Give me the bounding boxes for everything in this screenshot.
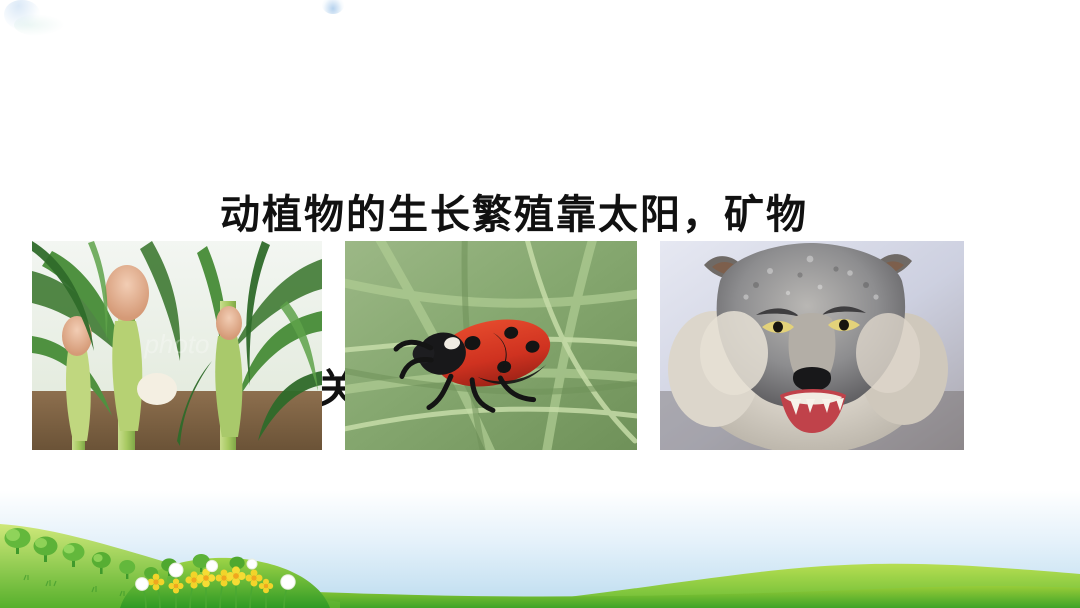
top-accent-blob-left-secondary-icon	[14, 14, 64, 36]
wolf-photo-art	[660, 241, 964, 450]
heading-line-1: 动植物的生长繁殖靠太阳，矿物	[0, 186, 1080, 244]
photo-row: photo	[32, 241, 964, 451]
beetle-photo-art	[345, 241, 637, 450]
slide-canvas: 动植物的生长繁殖靠太阳，矿物 也和太阳有关系。	[0, 0, 1080, 608]
corn-plants-photo: photo	[32, 241, 322, 450]
gray-wolf-photo	[660, 241, 964, 450]
red-beetle-photo	[345, 241, 637, 450]
top-accent-blob-center-icon	[322, 0, 344, 14]
hills-art	[0, 490, 1080, 608]
svg-text:photo: photo	[143, 329, 209, 359]
top-decoration	[0, 0, 1080, 40]
top-accent-blob-left-icon	[4, 0, 40, 30]
green-hills-landscape	[0, 490, 1080, 608]
corn-photo-art: photo	[32, 241, 322, 450]
